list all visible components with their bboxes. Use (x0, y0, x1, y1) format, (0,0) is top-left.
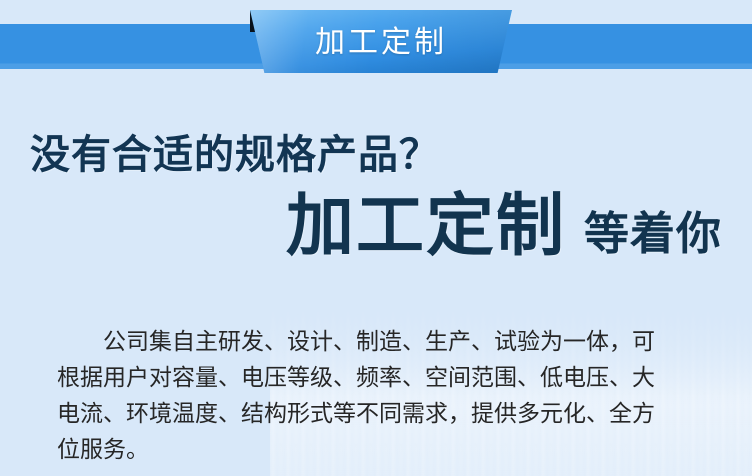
body-paragraph: 公司集自主研发、设计、制造、生产、试验为一体，可 根据用户对容量、电压等级、频率… (57, 324, 702, 468)
headline-emphasis: 加工定制 (286, 192, 566, 260)
body-line: 位服务。 (57, 432, 702, 468)
ribbon-label: 加工定制 (250, 10, 512, 67)
body-line: 根据用户对容量、电压等级、频率、空间范围、低电压、大 (57, 360, 702, 396)
body-line: 公司集自主研发、设计、制造、生产、试验为一体，可 (57, 324, 702, 360)
body-line: 电流、环境温度、结构形式等不同需求，提供多元化、全方 (57, 396, 702, 432)
headline-question: 没有合适的规格产品？ (30, 122, 440, 180)
headline-emphasis-row: 加工定制 等着你 (0, 192, 722, 260)
promo-banner-page: 加工定制 没有合适的规格产品？ 加工定制 等着你 公司集自主研发、设计、制造、生… (0, 0, 752, 476)
headline-tagline: 等着你 (584, 211, 722, 256)
ribbon-tab: 加工定制 (236, 10, 526, 78)
